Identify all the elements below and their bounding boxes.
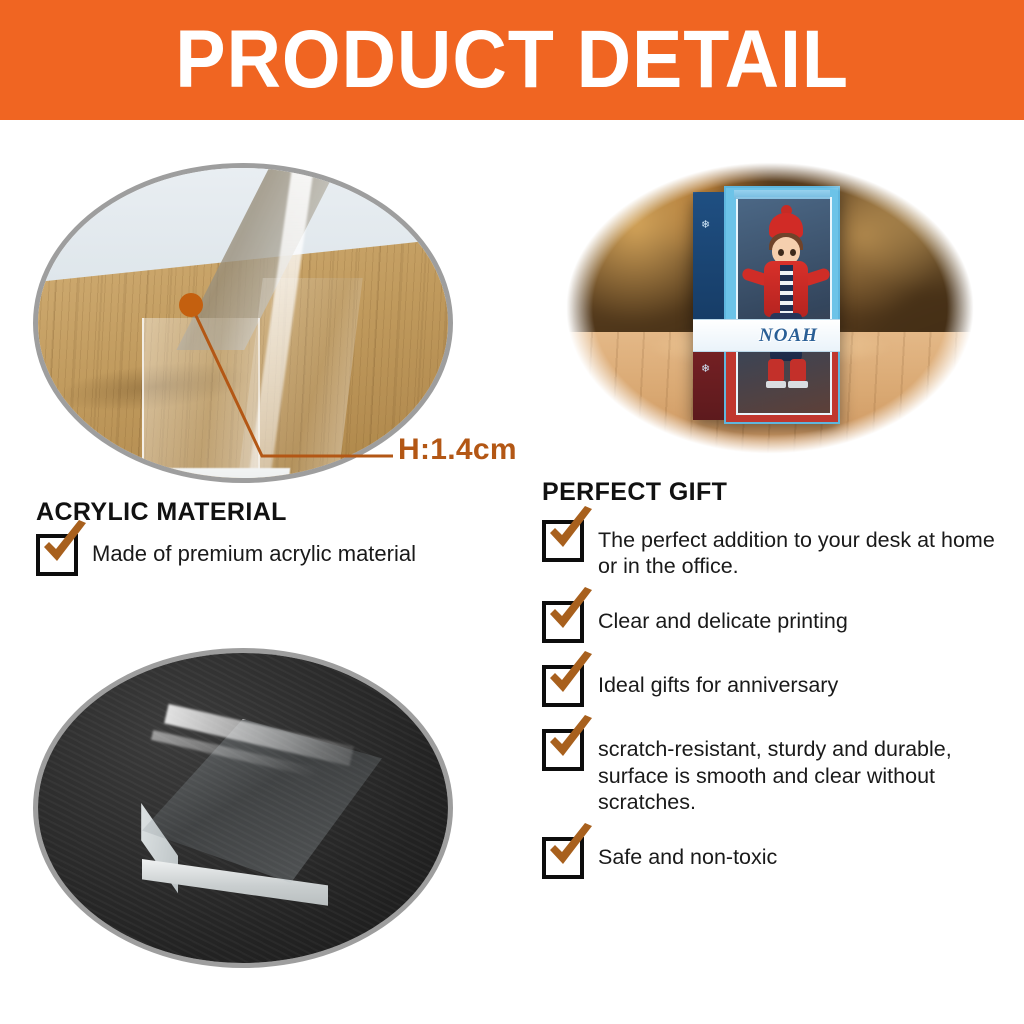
check-mark-icon [38, 521, 92, 575]
eye-right [790, 249, 796, 256]
check-mark-icon [544, 507, 598, 561]
feature-item: Ideal gifts for anniversary [542, 665, 1012, 707]
acrylic-front-face [142, 318, 260, 483]
feature-text: Made of premium acrylic material [92, 534, 416, 568]
snowflake-icon: ❄ [701, 364, 710, 375]
ice-skate-left [768, 359, 784, 381]
acrylic-base-shadow [136, 468, 290, 483]
checkbox-checked-icon [36, 534, 78, 576]
feature-text: Ideal gifts for anniversary [598, 665, 838, 698]
ice-skate-right [790, 359, 806, 381]
check-mark-icon [544, 588, 598, 642]
feature-text: scratch-resistant, sturdy and durable, s… [598, 729, 1012, 815]
box-lid-strip [734, 190, 830, 199]
striped-sweater [780, 265, 793, 315]
check-mark-icon [544, 824, 598, 878]
feature-text: Clear and delicate printing [598, 601, 848, 634]
photo-acrylic-edge-on-wood [33, 163, 453, 483]
feature-item: scratch-resistant, sturdy and durable, s… [542, 729, 1012, 815]
checkbox-checked-icon [542, 665, 584, 707]
feature-text: The perfect addition to your desk at hom… [598, 520, 1012, 579]
box-front-panel [724, 186, 840, 424]
checkbox-checked-icon [542, 729, 584, 771]
product-retail-box: ❄ ❄ [693, 186, 840, 424]
checkbox-checked-icon [542, 601, 584, 643]
box-left-panel: ❄ ❄ [693, 192, 724, 420]
section-title-perfect-gift: PERFECT GIFT [542, 478, 727, 507]
feature-item: Clear and delicate printing [542, 601, 1012, 643]
box-display-window [736, 197, 832, 415]
photo-acrylic-slab-on-slate [33, 648, 453, 968]
checkbox-checked-icon [542, 520, 584, 562]
check-mark-icon [544, 652, 598, 706]
feature-item: Made of premium acrylic material [36, 534, 516, 576]
page-title: PRODUCT DETAIL [175, 19, 849, 101]
boy-figurine [738, 199, 834, 417]
page-header-banner: PRODUCT DETAIL [0, 0, 1024, 120]
feature-item: Safe and non-toxic [542, 837, 1012, 879]
check-mark-icon [544, 716, 598, 770]
feature-item: The perfect addition to your desk at hom… [542, 520, 1012, 579]
eye-left [778, 249, 784, 256]
photo-gift-box-figurine: ❄ ❄ [560, 158, 980, 458]
box-name-label: NOAH [737, 322, 840, 350]
snowflake-icon: ❄ [701, 220, 710, 231]
feature-text: Safe and non-toxic [598, 837, 777, 870]
checkbox-checked-icon [542, 837, 584, 879]
feature-list-perfect-gift: The perfect addition to your desk at hom… [542, 520, 1012, 901]
feature-list-acrylic-material: Made of premium acrylic material [36, 534, 516, 592]
